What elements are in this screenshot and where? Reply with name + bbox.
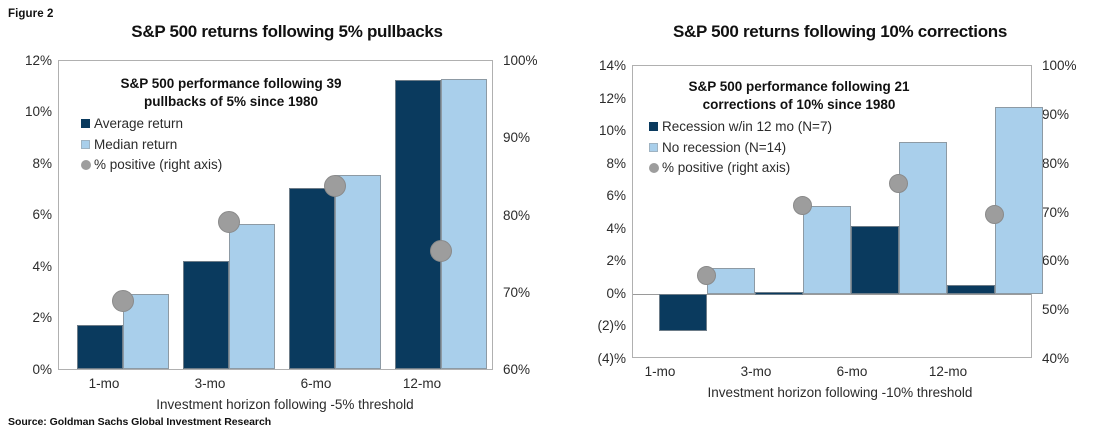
bar-average-6mo[interactable] xyxy=(289,188,335,369)
y-tick-right-0: 100% xyxy=(1042,59,1077,73)
x-axis-title-right: Investment horizon following -10% thresh… xyxy=(560,385,1114,400)
x-axis-title-left: Investment horizon following -5% thresho… xyxy=(0,397,560,412)
bar-recession-3mo[interactable] xyxy=(755,292,803,295)
bar-recession-12mo[interactable] xyxy=(947,285,995,294)
plot-area-right: S&P 500 performance following 21 correct… xyxy=(632,65,1032,358)
chart-panel-right: S&P 500 returns following 10% correction… xyxy=(560,0,1114,410)
bar-median-12mo[interactable] xyxy=(441,79,487,369)
y-tick-right-0: 100% xyxy=(503,54,538,68)
x-label-1mo: 1-mo xyxy=(64,376,144,391)
square-light-icon xyxy=(649,143,658,152)
circle-gray-icon xyxy=(649,163,659,173)
bar-no-recession-12mo[interactable] xyxy=(995,107,1043,294)
x-label-3mo: 3-mo xyxy=(716,364,796,379)
x-label-6mo: 6-mo xyxy=(812,364,892,379)
bar-median-3mo[interactable] xyxy=(229,224,275,369)
y-tick-right-5: 50% xyxy=(1042,303,1069,317)
legend-item-label: Average return xyxy=(94,117,183,131)
y-tick-right-2: 80% xyxy=(1042,157,1069,171)
y-tick-left-9: (4)% xyxy=(574,352,626,366)
y-tick-right-4: 60% xyxy=(1042,254,1069,268)
y-tick-left-5: 4% xyxy=(574,222,626,236)
y-tick-left-1: 12% xyxy=(574,92,626,106)
square-dark-icon xyxy=(649,122,658,131)
legend-item-average-return[interactable]: Average return xyxy=(81,117,381,131)
circle-gray-icon xyxy=(81,160,91,170)
y-tick-left-3: 8% xyxy=(574,157,626,171)
marker-pct-positive-6mo[interactable] xyxy=(889,174,908,193)
legend-title-line2: corrections of 10% since 1980 xyxy=(703,97,896,112)
legend-title-line1: S&P 500 performance following 21 xyxy=(688,79,909,94)
y-tick-left-1: 10% xyxy=(8,105,52,119)
legend-item-label: Median return xyxy=(94,138,177,152)
y-tick-left-3: 6% xyxy=(8,208,52,222)
square-light-icon xyxy=(81,140,90,149)
y-tick-left-7: 0% xyxy=(574,287,626,301)
legend-left: S&P 500 performance following 39 pullbac… xyxy=(81,75,381,179)
y-tick-right-3: 70% xyxy=(503,286,530,300)
legend-item-label: Recession w/in 12 mo (N=7) xyxy=(662,120,832,134)
y-tick-left-6: 2% xyxy=(574,254,626,268)
marker-pct-positive-1mo[interactable] xyxy=(112,290,134,312)
x-label-12mo: 12-mo xyxy=(382,376,462,391)
marker-pct-positive-12mo[interactable] xyxy=(985,205,1004,224)
y-tick-left-6: 0% xyxy=(8,363,52,377)
legend-item-median-return[interactable]: Median return xyxy=(81,138,381,152)
bar-recession-6mo[interactable] xyxy=(851,226,899,294)
chart-panel-left: S&P 500 returns following 5% pullbacks 1… xyxy=(0,0,560,410)
x-label-12mo: 12-mo xyxy=(908,364,988,379)
x-label-1mo: 1-mo xyxy=(620,364,700,379)
legend-title-line2: pullbacks of 5% since 1980 xyxy=(144,94,318,109)
y-tick-right-1: 90% xyxy=(1042,108,1069,122)
y-tick-right-4: 60% xyxy=(503,363,530,377)
source-note: Source: Goldman Sachs Global Investment … xyxy=(8,416,271,428)
y-tick-left-0: 14% xyxy=(574,59,626,73)
y-tick-left-8: (2)% xyxy=(574,319,626,333)
marker-pct-positive-1mo[interactable] xyxy=(697,266,716,285)
bar-no-recession-3mo[interactable] xyxy=(803,206,851,294)
legend-title-line1: S&P 500 performance following 39 xyxy=(120,76,341,91)
x-label-6mo: 6-mo xyxy=(276,376,356,391)
y-tick-left-0: 12% xyxy=(8,54,52,68)
marker-pct-positive-12mo[interactable] xyxy=(430,240,452,262)
bar-recession-1mo[interactable] xyxy=(659,294,707,331)
y-tick-right-3: 70% xyxy=(1042,206,1069,220)
chart-title-left: S&P 500 returns following 5% pullbacks xyxy=(0,22,560,42)
y-tick-left-4: 4% xyxy=(8,260,52,274)
chart-title-right: S&P 500 returns following 10% correction… xyxy=(560,22,1114,42)
y-tick-left-2: 10% xyxy=(574,124,626,138)
legend-item-label: % positive (right axis) xyxy=(94,158,222,172)
y-tick-left-5: 2% xyxy=(8,311,52,325)
legend-item-label: % positive (right axis) xyxy=(662,161,790,175)
marker-pct-positive-6mo[interactable] xyxy=(324,175,346,197)
y-tick-right-1: 90% xyxy=(503,131,530,145)
plot-area-left: S&P 500 performance following 39 pullbac… xyxy=(58,60,493,370)
legend-item-pct-positive[interactable]: % positive (right axis) xyxy=(81,158,381,172)
bar-no-recession-6mo[interactable] xyxy=(899,142,947,294)
x-label-3mo: 3-mo xyxy=(170,376,250,391)
bar-average-12mo[interactable] xyxy=(395,80,441,369)
y-tick-left-4: 6% xyxy=(574,189,626,203)
y-tick-right-2: 80% xyxy=(503,209,530,223)
bar-median-6mo[interactable] xyxy=(335,175,381,369)
marker-pct-positive-3mo[interactable] xyxy=(793,196,812,215)
legend-title-left: S&P 500 performance following 39 pullbac… xyxy=(81,75,381,110)
y-tick-left-2: 8% xyxy=(8,157,52,171)
bar-average-1mo[interactable] xyxy=(77,325,123,369)
marker-pct-positive-3mo[interactable] xyxy=(218,211,240,233)
bar-average-3mo[interactable] xyxy=(183,261,229,369)
legend-item-recession[interactable]: Recession w/in 12 mo (N=7) xyxy=(649,120,949,134)
legend-item-label: No recession (N=14) xyxy=(662,141,786,155)
square-dark-icon xyxy=(81,119,90,128)
legend-title-right: S&P 500 performance following 21 correct… xyxy=(649,78,949,113)
y-tick-right-6: 40% xyxy=(1042,352,1069,366)
